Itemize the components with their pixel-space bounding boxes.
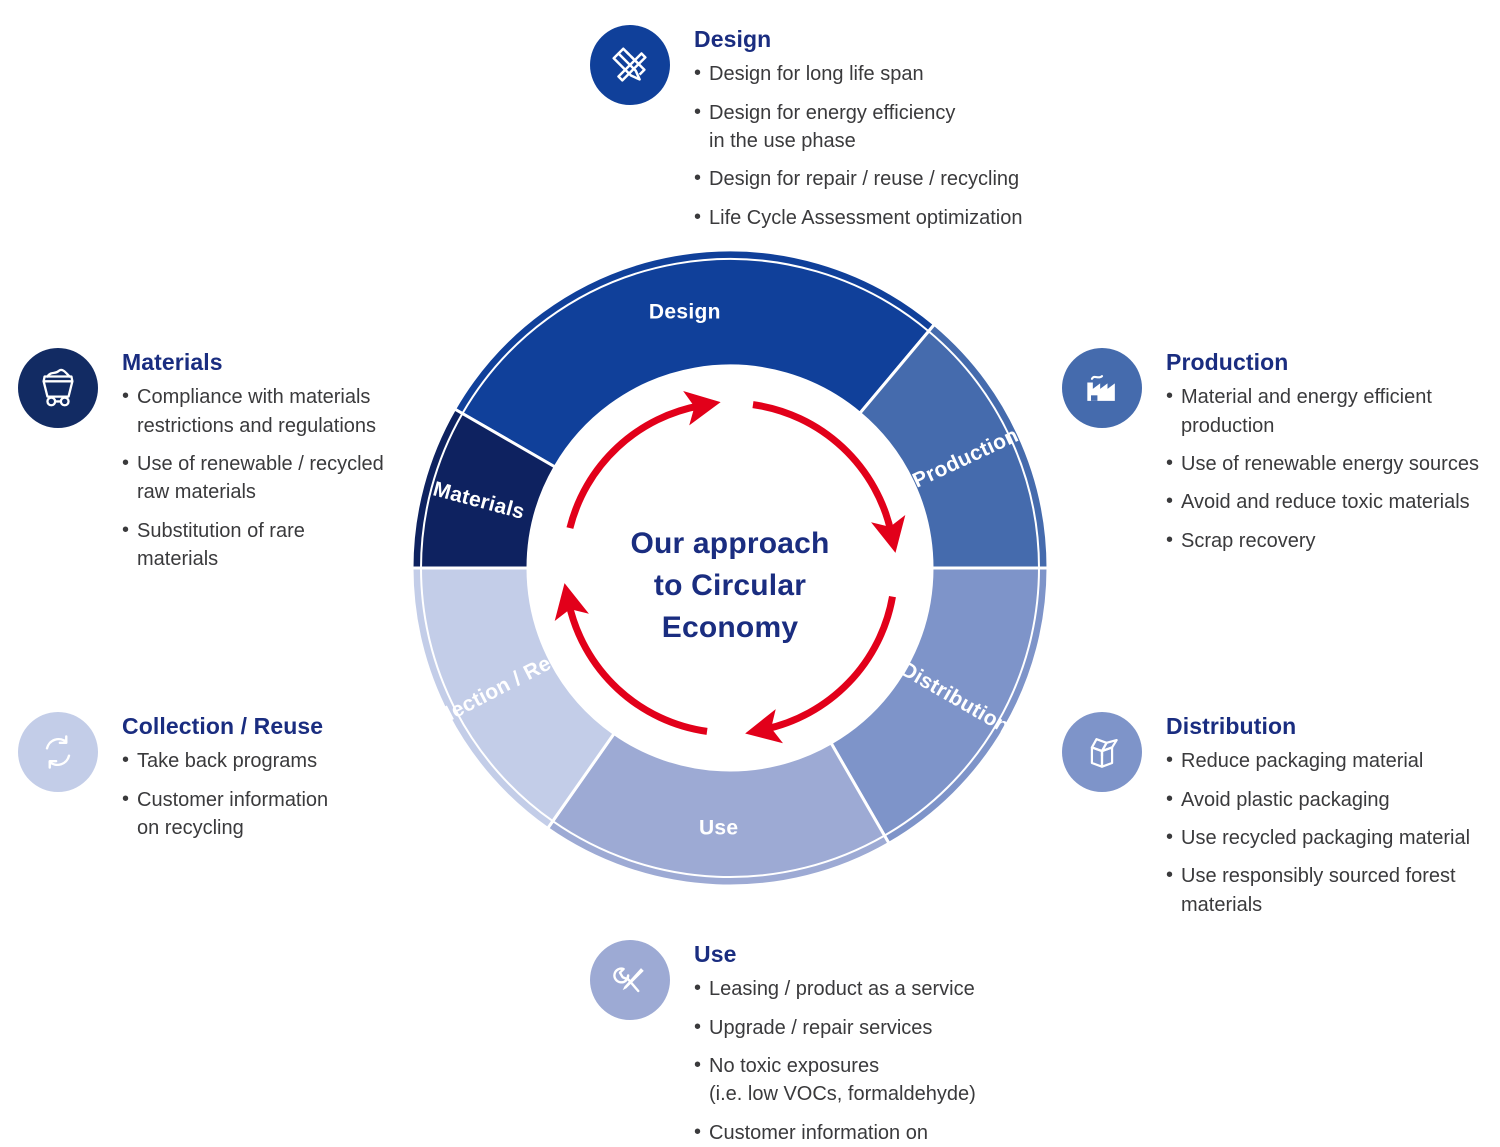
production-badge [1062, 348, 1142, 428]
bullet-item: Material and energy efficient production [1166, 383, 1479, 440]
distribution-badge [1062, 712, 1142, 792]
cycle-arrows [569, 405, 893, 732]
design-badge [590, 25, 670, 105]
bullet-item: Design for energy efficiency in the use … [694, 99, 1022, 156]
center-line-1: Our approach [630, 527, 829, 560]
open-box-icon [1080, 730, 1124, 774]
wrench-screwdriver-icon [608, 958, 652, 1002]
bullet-item: Leasing / product as a service [694, 975, 976, 1003]
use-badge [590, 940, 670, 1020]
bullet-item: Substitution of rare materials [122, 517, 384, 574]
callout-materials-bullets: Compliance with materials restrictions a… [122, 383, 384, 573]
bullet-item: Scrap recovery [1166, 527, 1479, 555]
center-line-2: to Circular [654, 569, 806, 602]
factory-icon [1080, 366, 1124, 410]
recycle-arrows-icon [36, 730, 80, 774]
bullet-item: Design for repair / reuse / recycling [694, 165, 1022, 193]
bullet-item: Upgrade / repair services [694, 1014, 976, 1042]
bullet-item: Take back programs [122, 747, 328, 775]
center-line-3: Economy [662, 611, 799, 644]
materials-badge [18, 348, 98, 428]
bullet-item: Customer information on recycling [122, 786, 328, 843]
callout-collection-reuse: Collection / Reuse Take back programs Cu… [18, 712, 398, 852]
bullet-item: Use of renewable / recycled raw material… [122, 450, 384, 507]
circular-economy-diagram: Design Design for long life span Design … [0, 0, 1500, 1147]
bullet-item: Use recycled packaging material [1166, 824, 1470, 852]
callout-production-title: Production [1166, 350, 1479, 375]
callout-materials: Materials Compliance with materials rest… [18, 348, 398, 584]
bullet-item: Avoid and reduce toxic materials [1166, 488, 1479, 516]
callout-use-title: Use [694, 942, 976, 967]
bullet-item: Design for long life span [694, 60, 1022, 88]
bullet-item: No toxic exposures (i.e. low VOCs, forma… [694, 1052, 976, 1109]
bullet-item: Avoid plastic packaging [1166, 786, 1470, 814]
callout-distribution-bullets: Reduce packaging material Avoid plastic … [1166, 747, 1470, 919]
pencil-ruler-icon [607, 42, 653, 88]
callout-design-bullets: Design for long life span Design for ene… [694, 60, 1022, 232]
segment-label-use: Use [699, 816, 738, 839]
segment-label-design: Design [649, 300, 721, 323]
mine-cart-icon [35, 365, 81, 411]
callout-collection-reuse-title: Collection / Reuse [122, 714, 328, 739]
wheel-segment-design[interactable] [455, 250, 935, 467]
callout-distribution: Distribution Reduce packaging material A… [1062, 712, 1492, 929]
callout-production-bullets: Material and energy efficient production… [1166, 383, 1479, 555]
callout-design-title: Design [694, 27, 1022, 52]
callout-production: Production Material and energy efficient… [1062, 348, 1492, 565]
callout-distribution-title: Distribution [1166, 714, 1470, 739]
bullet-item: Customer information on sustainability f… [694, 1119, 976, 1147]
callout-use: Use Leasing / product as a service Upgra… [590, 940, 1050, 1147]
collection-reuse-badge [18, 712, 98, 792]
wheel-segments [412, 250, 1048, 886]
bullet-item: Life Cycle Assessment optimization [694, 204, 1022, 232]
callout-collection-reuse-bullets: Take back programs Customer information … [122, 747, 328, 842]
circular-economy-wheel: DesignProductionDistributionUseCollectio… [410, 248, 1050, 888]
bullet-item: Use of renewable energy sources [1166, 450, 1479, 478]
callout-materials-title: Materials [122, 350, 384, 375]
bullet-item: Compliance with materials restrictions a… [122, 383, 384, 440]
callout-use-bullets: Leasing / product as a service Upgrade /… [694, 975, 976, 1147]
callout-design: Design Design for long life span Design … [590, 25, 1070, 242]
bullet-item: Reduce packaging material [1166, 747, 1470, 775]
bullet-item: Use responsibly sourced forest materials [1166, 862, 1470, 919]
